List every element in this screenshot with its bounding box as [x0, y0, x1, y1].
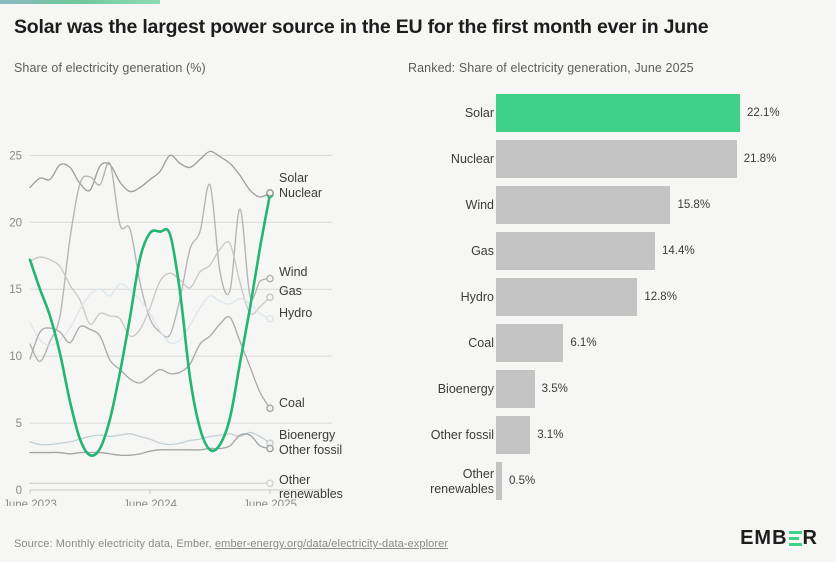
bar-gas[interactable]	[496, 232, 655, 270]
bar-row[interactable]: Gas14.4%	[404, 232, 836, 270]
bar-row[interactable]: Nuclear21.8%	[404, 140, 836, 178]
source-link[interactable]: ember-energy.org/data/electricity-data-e…	[215, 538, 448, 550]
bar-bioenergy[interactable]	[496, 370, 535, 408]
line-chart-svg: 0510152025June 2023June 2024June 2025Sol…	[0, 86, 400, 506]
series-end-marker-gas	[267, 294, 273, 300]
bar-category-label: Wind	[384, 198, 494, 213]
series-label-nuclear: Nuclear	[279, 186, 322, 200]
bar-category-label: Gas	[384, 244, 494, 259]
series-label-hydro: Hydro	[279, 306, 312, 320]
series-end-marker-other-fossil	[267, 445, 273, 451]
bar-category-label: Hydro	[384, 290, 494, 305]
series-label-other-renewables: Other	[279, 473, 310, 487]
bar-chart-subtitle: Ranked: Share of electricity generation,…	[408, 61, 694, 75]
bar-value-label: 12.8%	[644, 291, 677, 303]
bar-value-label: 21.8%	[744, 153, 777, 165]
y-axis-tick-label: 15	[9, 284, 22, 296]
y-axis-tick-label: 25	[9, 150, 22, 162]
bar-solar[interactable]	[496, 94, 740, 132]
bar-category-label: Other fossil	[384, 428, 494, 443]
source-prefix: Source: Monthly electricity data, Ember,	[14, 538, 215, 550]
y-axis-tick-label: 10	[9, 351, 22, 363]
line-chart: 0510152025June 2023June 2024June 2025Sol…	[0, 86, 400, 506]
series-label-wind: Wind	[279, 265, 308, 279]
series-line-nuclear	[30, 151, 270, 197]
bar-category-label: Solar	[384, 106, 494, 121]
series-label-bioenergy: Bioenergy	[279, 428, 336, 442]
bar-row[interactable]: Otherrenewables0.5%	[404, 462, 836, 500]
bar-value-label: 22.1%	[747, 107, 780, 119]
page-title: Solar was the largest power source in th…	[14, 14, 814, 40]
bar-wind[interactable]	[496, 186, 670, 224]
series-label-gas: Gas	[279, 284, 302, 298]
logo-e-icon	[789, 531, 802, 547]
x-axis-tick-label: June 2024	[123, 499, 177, 506]
chart-page: Solar was the largest power source in th…	[0, 0, 836, 562]
bar-row[interactable]: Hydro12.8%	[404, 278, 836, 316]
bar-row[interactable]: Coal6.1%	[404, 324, 836, 362]
logo-text-part1: EMB	[740, 527, 787, 550]
series-label-other-fossil: Other fossil	[279, 443, 342, 457]
series-end-marker-wind	[267, 275, 273, 281]
bar-hydro[interactable]	[496, 278, 637, 316]
bar-category-label: Nuclear	[384, 152, 494, 167]
bar-row[interactable]: Solar22.1%	[404, 94, 836, 132]
bar-other-fossil[interactable]	[496, 416, 530, 454]
series-line-wind	[30, 162, 270, 361]
x-axis-tick-label: June 2023	[3, 499, 57, 506]
logo-text-part2: R	[803, 527, 818, 550]
bar-coal[interactable]	[496, 324, 563, 362]
bar-category-label: Otherrenewables	[384, 467, 494, 496]
series-label-solar: Solar	[279, 171, 308, 185]
series-end-marker-nuclear	[267, 190, 273, 196]
bar-chart: Solar22.1%Nuclear21.8%Wind15.8%Gas14.4%H…	[404, 86, 836, 506]
series-line-other-fossil	[30, 434, 270, 456]
y-axis-tick-label: 5	[16, 418, 22, 430]
series-end-marker-coal	[267, 405, 273, 411]
bar-value-label: 3.1%	[537, 429, 563, 441]
bar-category-label: Coal	[384, 336, 494, 351]
bar-other-renewables[interactable]	[496, 462, 502, 500]
bar-value-label: 3.5%	[542, 383, 568, 395]
bar-row[interactable]: Other fossil3.1%	[404, 416, 836, 454]
bar-value-label: 15.8%	[677, 199, 710, 211]
y-axis-tick-label: 0	[16, 485, 22, 497]
top-accent-bar	[0, 0, 160, 4]
bar-value-label: 14.4%	[662, 245, 695, 257]
series-line-hydro	[30, 284, 270, 346]
y-axis-tick-label: 20	[9, 217, 22, 229]
bar-nuclear[interactable]	[496, 140, 737, 178]
source-note: Source: Monthly electricity data, Ember,…	[14, 538, 448, 550]
series-label-other-renewables: renewables	[279, 487, 343, 501]
bar-row[interactable]: Wind15.8%	[404, 186, 836, 224]
ember-logo: EMB R	[740, 527, 818, 550]
line-chart-subtitle: Share of electricity generation (%)	[14, 61, 206, 75]
bar-row[interactable]: Bioenergy3.5%	[404, 370, 836, 408]
bar-value-label: 6.1%	[570, 337, 596, 349]
series-end-marker-other-renewables	[267, 480, 273, 486]
bar-value-label: 0.5%	[509, 475, 535, 487]
series-line-bioenergy	[30, 432, 270, 444]
series-label-coal: Coal	[279, 396, 305, 410]
series-end-marker-hydro	[267, 316, 273, 322]
bar-category-label: Bioenergy	[384, 382, 494, 397]
